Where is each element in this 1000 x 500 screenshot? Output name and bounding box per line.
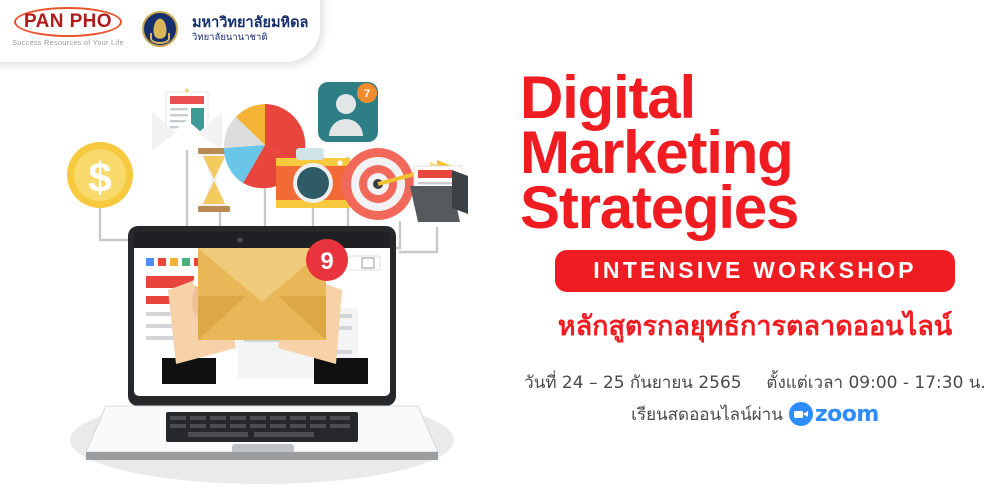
panpho-tagline: Success Resources of Your Life: [6, 38, 130, 47]
event-date: วันที่ 24 – 25 กันยายน 2565: [524, 373, 741, 393]
event-datetime: วันที่ 24 – 25 กันยายน 2565 ตั้งแต่เวลา …: [520, 369, 990, 396]
poster-text-column: Digital Marketing Strategies INTENSIVE W…: [520, 70, 990, 480]
headline-line-1: Digital: [520, 70, 990, 125]
panpho-wordmark: PAN PHO: [6, 7, 130, 37]
user-profile-icon: 7: [318, 82, 378, 142]
mahidol-seal-icon: [142, 11, 178, 47]
platform-line: เรียนสดออนไลน์ผ่าน zoom: [520, 401, 990, 428]
status-badge: INTENSIVE WORKSHOP: [555, 250, 955, 292]
svg-text:$: $: [88, 154, 111, 201]
panpho-logo: PAN PHO Success Resources of Your Life: [6, 5, 128, 53]
notification-badge: 9: [306, 239, 348, 281]
marketing-illustration: $: [0, 0, 520, 500]
mahidol-logo-text: มหาวิทยาลัยมหิดล วิทยาลัยนานาชาติ: [192, 15, 308, 43]
svg-text:9: 9: [320, 248, 333, 275]
zoom-camera-icon: [789, 402, 813, 426]
headline-line-2: Marketing: [520, 125, 990, 180]
event-time: ตั้งแต่เวลา 09:00 - 17:30 น.: [766, 373, 985, 393]
university-name: มหาวิทยาลัยมหิดล: [192, 15, 308, 32]
platform-prefix-label: เรียนสดออนไลน์ผ่าน: [631, 401, 783, 428]
university-subname: วิทยาลัยนานาชาติ: [192, 32, 308, 43]
laptop-icon: 9: [70, 226, 454, 484]
coin-dollar-icon: $: [67, 142, 133, 208]
zoom-logo: zoom: [789, 402, 879, 427]
user-badge-count: 7: [364, 88, 370, 100]
page-title: Digital Marketing Strategies: [520, 70, 990, 236]
thai-subtitle: หลักสูตรกลยุทธ์การตลาดออนไลน์: [520, 304, 990, 347]
zoom-wordmark: zoom: [815, 402, 879, 427]
poster-canvas: PAN PHO Success Resources of Your Life ม…: [0, 0, 1000, 500]
header-logo-card: PAN PHO Success Resources of Your Life ม…: [0, 0, 320, 62]
mail-newsletter-icon: [152, 88, 222, 150]
folder-document-icon: [410, 166, 468, 222]
headline-line-3: Strategies: [520, 180, 990, 235]
